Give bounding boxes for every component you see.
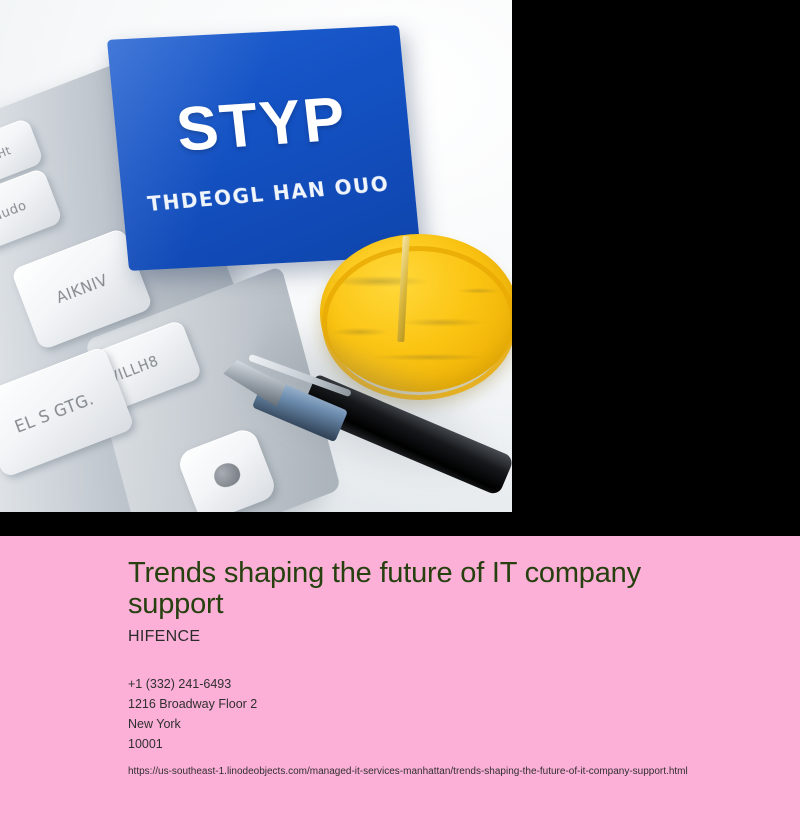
page-title: Trends shaping the future of IT company … [128,558,728,621]
letterbox-bottom [0,512,512,536]
contact-block: +1 (332) 241-6493 1216 Broadway Floor 2 … [128,674,760,754]
page-root: Ht audo AIKNIV WILLH8 EL S GTG. STYP THD… [0,0,800,840]
contact-phone[interactable]: +1 (332) 241-6493 [128,674,760,694]
brand-name: HIFENCE [128,628,760,646]
contact-postal-code: 10001 [128,734,760,754]
letterbox-right [512,0,800,536]
calculator-key-label: audo [0,197,29,224]
calculator-glyph-icon [211,460,244,491]
contact-street: 1216 Broadway Floor 2 [128,694,760,714]
sign-subtitle-text: THDEOGL HAN OUO [121,169,415,218]
calculator-key-label: Ht [0,143,13,161]
content-card: Trends shaping the future of IT company … [0,536,800,840]
calculator-key-label: AIKNIV [54,271,111,308]
source-url[interactable]: https://us-southeast-1.linodeobjects.com… [128,765,760,779]
sign-title-text: STYP [113,84,411,166]
content-card-inner: Trends shaping the future of IT company … [128,558,760,779]
hero-image: Ht audo AIKNIV WILLH8 EL S GTG. STYP THD… [0,0,512,512]
contact-city: New York [128,714,760,734]
calculator-key-label: EL S GTG. [12,388,97,436]
